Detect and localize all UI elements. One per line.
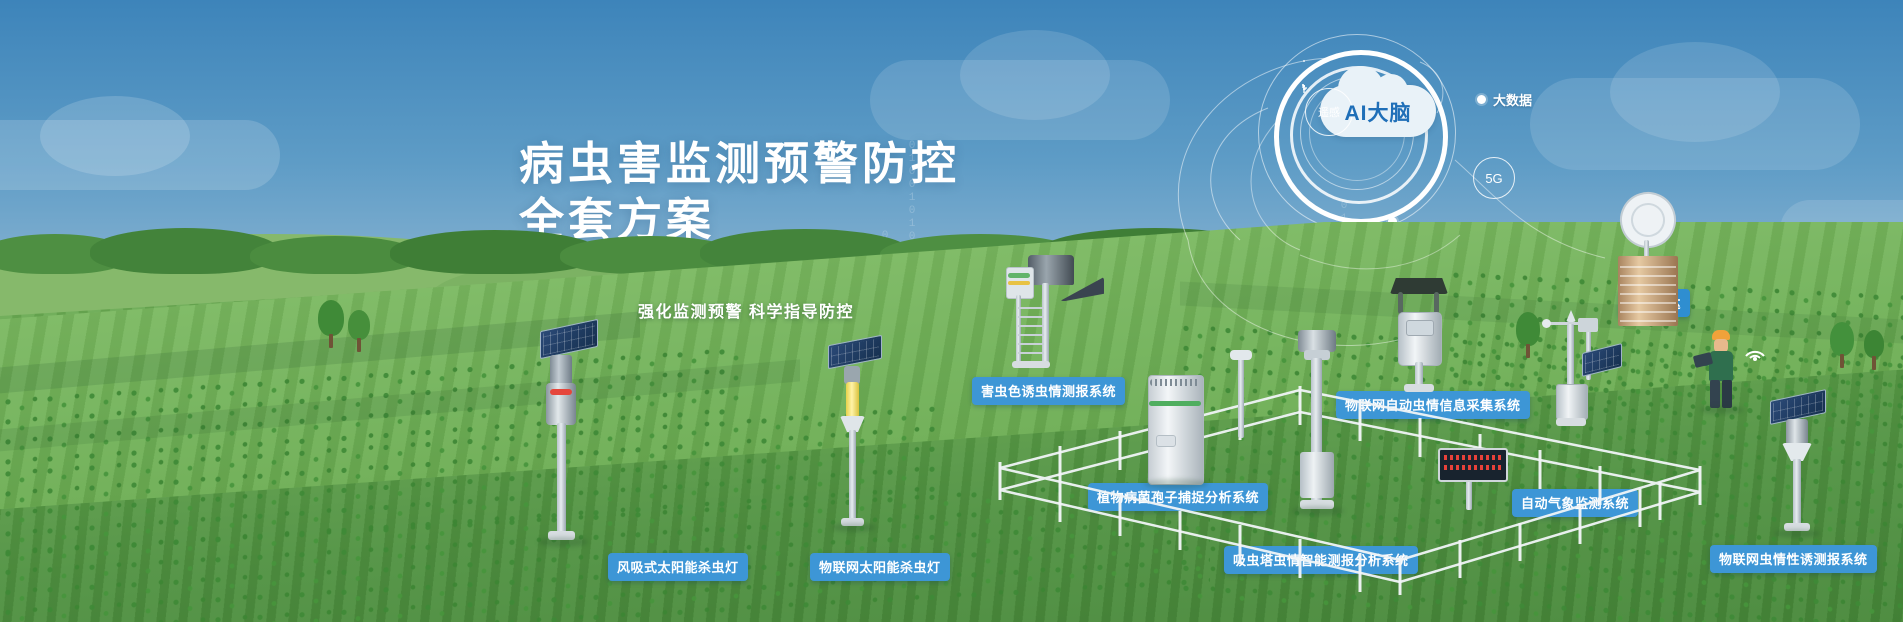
suction-tower-head (1298, 330, 1336, 352)
ai-core-label: AI大脑 (1322, 97, 1434, 127)
lamp-pole (849, 430, 856, 520)
anemometer-cup (1542, 319, 1551, 328)
weather-solar-panel (1582, 343, 1622, 377)
node-label-bigdata: 大数据 (1493, 90, 1532, 109)
worker-leg (1710, 380, 1720, 408)
node-yaogan-render[interactable] (1303, 88, 1305, 90)
node-badge-remote-sensing[interactable] (1303, 91, 1305, 93)
lure-ladder (1018, 301, 1044, 363)
label-wind-solar-lamp: 风吸式太阳能杀虫灯 (608, 553, 748, 581)
ai-node-yaogan[interactable] (1303, 60, 1305, 62)
weather-base (1556, 418, 1586, 426)
worker-torso (1709, 351, 1733, 381)
spore-cabinet-vent (1156, 435, 1176, 447)
node-label-5g: 5G (1485, 171, 1502, 186)
node-dot-bigdata[interactable] (1477, 95, 1486, 104)
device-iot-pheromone-system[interactable] (1760, 395, 1840, 545)
label-auto-weather-system: 自动气象监测系统 (1512, 489, 1638, 517)
weather-cabinet (1556, 384, 1588, 420)
lamp-pole (557, 423, 566, 533)
hero-banner: 010010100101100101 0100101101 0100101100… (0, 0, 1903, 622)
spore-shadow (1144, 479, 1208, 489)
radar-tower-floors (1620, 260, 1676, 322)
fence-utility-lamp (1230, 350, 1252, 360)
device-iot-solar-lamp[interactable] (820, 340, 890, 540)
lure-hood (1028, 255, 1074, 285)
suction-tower-cabinet (1300, 452, 1334, 498)
lamp-shadow (832, 523, 876, 532)
fence-utility-pole (1238, 358, 1244, 438)
suction-tower-shadow (1292, 506, 1344, 516)
cloud-decor (960, 30, 1110, 120)
tree (1830, 322, 1854, 368)
page-subtitle: 强化监测预警 科学指导防控 (638, 298, 854, 322)
solar-panel (540, 319, 598, 359)
device-spore-capture-system[interactable] (1148, 375, 1208, 495)
pest-collector-base (1404, 384, 1434, 392)
field-worker (1700, 330, 1746, 412)
worker-wifi-icon (1742, 338, 1768, 362)
worker-shadow (1700, 406, 1744, 414)
pest-collector-screen (1406, 320, 1434, 336)
lamp-head (550, 355, 572, 385)
label-iot-solar-lamp: 物联网太阳能杀虫灯 (810, 553, 950, 581)
solar-panel (828, 335, 882, 369)
device-color-lure-system[interactable] (1000, 255, 1090, 370)
tree (318, 300, 344, 348)
ai-node-5g-badge[interactable]: 5G (1473, 157, 1515, 199)
device-suction-tower-system[interactable] (1290, 330, 1346, 540)
worker-leg (1722, 380, 1732, 408)
pheromone-trap-head (1786, 419, 1808, 445)
cloud-decor (40, 96, 190, 176)
led-display-board[interactable] (1438, 448, 1508, 482)
lamp-shadow (538, 537, 588, 547)
label-color-lure-system: 害虫色诱虫情测报系统 (972, 377, 1125, 405)
device-auto-weather-system[interactable] (1530, 322, 1620, 452)
pest-collector-leg (1398, 292, 1403, 314)
spore-cabinet-band (1149, 401, 1201, 406)
label-suction-tower-system: 吸虫塔虫情智能测报分析系统 (1224, 546, 1418, 574)
lamp-indicator (550, 389, 572, 395)
cloud-decor (1610, 42, 1780, 142)
spore-cabinet (1148, 375, 1204, 485)
device-insect-radar[interactable] (1600, 200, 1710, 330)
spore-cabinet-top (1150, 379, 1200, 386)
pest-collector-leg (1434, 292, 1439, 314)
pheromone-shadow (1774, 529, 1820, 538)
lure-base (1012, 361, 1050, 368)
lure-trap-stripe (1008, 281, 1030, 285)
device-iot-auto-pest-system[interactable] (1388, 278, 1458, 398)
title-line-1: 病虫害监测预警防控 (519, 136, 960, 192)
label-iot-pheromone-system: 物联网虫情性诱测报系统 (1710, 545, 1877, 573)
tree (1864, 330, 1884, 370)
lamp-tube (846, 382, 859, 418)
tree (348, 310, 370, 352)
pheromone-pole (1793, 459, 1801, 525)
radar-repeater-box (1578, 318, 1598, 332)
pest-collector-pole (1415, 362, 1423, 386)
lure-trap-stripe (1008, 273, 1030, 278)
device-wind-solar-lamp[interactable] (530, 325, 600, 555)
